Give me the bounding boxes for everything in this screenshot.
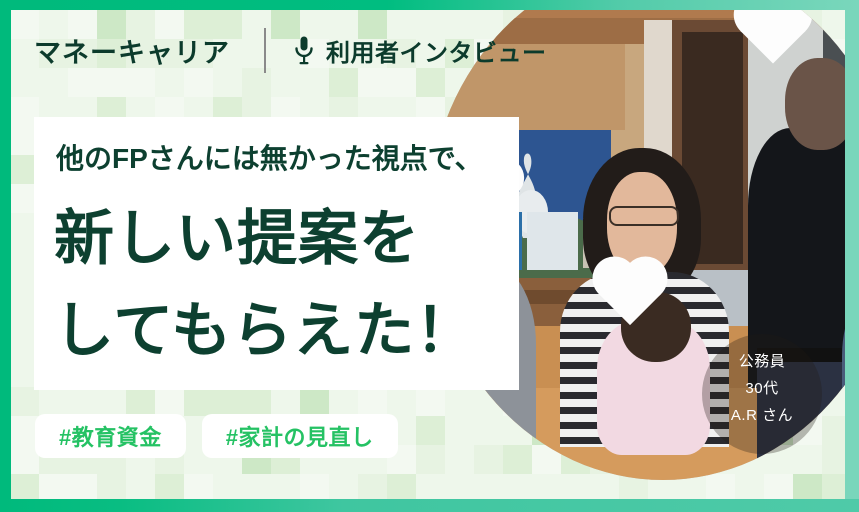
mosaic-tile [213, 474, 242, 499]
mosaic-tile [126, 474, 155, 499]
tag-chip[interactable]: #家計の見直し [202, 414, 398, 458]
mosaic-tile [387, 474, 416, 499]
mosaic-tile [184, 474, 213, 499]
mosaic-tile [126, 387, 155, 416]
headline-subtitle: 他のFPさんには無かった視点で、 [56, 137, 483, 177]
header-label: 利用者インタビュー [326, 33, 547, 68]
mosaic-tile [97, 387, 126, 416]
mosaic-tile [329, 387, 358, 416]
mosaic-tile [10, 474, 39, 499]
profile-name: A.R さん [702, 402, 822, 429]
photo-book-white [527, 212, 579, 270]
frame-border-top [0, 0, 859, 10]
mosaic-tile [39, 387, 68, 416]
mosaic-tile [213, 387, 242, 416]
mosaic-tile [68, 387, 97, 416]
mosaic-tile [358, 387, 387, 416]
mosaic-tile [68, 474, 97, 499]
mosaic-tile [358, 474, 387, 499]
mosaic-tile [97, 474, 126, 499]
tag-list: #教育資金 #家計の見直し [35, 414, 398, 458]
photo-mother-glasses-icon [609, 206, 679, 226]
mosaic-tile [242, 474, 271, 499]
interview-banner: 公務員 30代 A.R さん マネーキャリア 利用者インタビュー 他のFPさんに… [0, 0, 859, 512]
mosaic-tile [329, 474, 358, 499]
mosaic-tile [242, 387, 271, 416]
headline-line-2: してもらえた！ [54, 285, 476, 377]
tag-chip[interactable]: #教育資金 [35, 414, 186, 458]
mosaic-tile [387, 387, 416, 416]
microphone-icon [294, 36, 314, 66]
mosaic-tile [155, 387, 184, 416]
headline-main: 新しい提案を してもらえた！ [54, 193, 476, 377]
banner-header: マネーキャリア 利用者インタビュー [34, 28, 547, 73]
mosaic-tile [300, 474, 329, 499]
mosaic-tile [39, 474, 68, 499]
mosaic-tile [300, 387, 329, 416]
profile-info: 公務員 30代 A.R さん [702, 348, 822, 429]
headline-card: 他のFPさんには無かった視点で、 新しい提案を してもらえた！ [34, 117, 519, 390]
mosaic-tile [10, 387, 39, 416]
header-divider [264, 28, 266, 73]
brand-logo[interactable]: マネーキャリア [34, 31, 230, 70]
frame-border-bottom [0, 499, 859, 512]
mosaic-tile [271, 387, 300, 416]
headline-line-1: 新しい提案を [54, 193, 476, 285]
mosaic-tile [184, 387, 213, 416]
frame-border-left [0, 0, 11, 512]
profile-age: 30代 [702, 375, 822, 402]
profile-occupation: 公務員 [702, 348, 822, 375]
mosaic-tile [271, 474, 300, 499]
mosaic-tile [155, 474, 184, 499]
frame-border-right [845, 0, 859, 512]
